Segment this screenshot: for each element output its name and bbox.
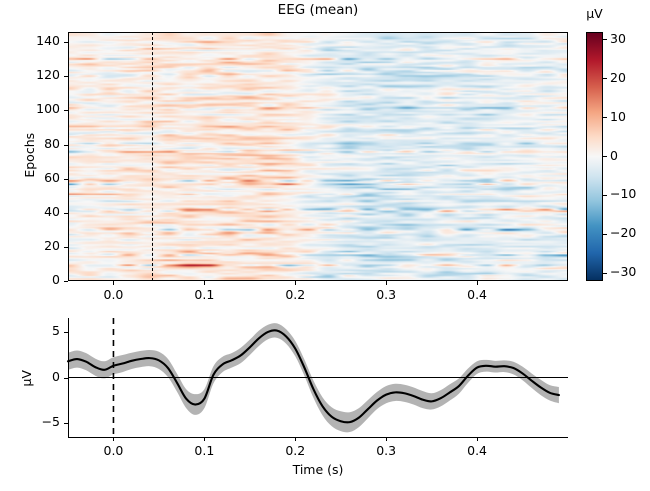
heatmap-y-tick-label: 120 xyxy=(0,69,60,82)
erp-x-tick-label: 0.0 xyxy=(91,445,135,458)
erp-y-axis-label: µV xyxy=(21,358,34,398)
heatmap-y-tick-label: 40 xyxy=(0,206,60,219)
colorbar-tick-label: 10 xyxy=(610,111,626,124)
heatmap-x-tick-label: 0.3 xyxy=(364,289,408,302)
heatmap-x-tick-label: 0.1 xyxy=(182,289,226,302)
erp-x-tick-label: 0.2 xyxy=(273,445,317,458)
colorbar-tick-label: 30 xyxy=(610,33,626,46)
erp-bottom-spine xyxy=(68,437,568,438)
heatmap-event-onset-line xyxy=(152,32,153,281)
erp-plot-svg xyxy=(68,318,568,437)
heatmap-y-tick-label: 100 xyxy=(0,103,60,116)
erp-mean-line xyxy=(68,330,559,422)
colorbar-tick-label: −20 xyxy=(610,227,636,240)
colorbar-title: µV xyxy=(586,8,603,21)
erp-x-axis-label: Time (s) xyxy=(68,464,568,477)
colorbar-tick-label: −30 xyxy=(610,266,636,279)
figure-canvas: EEG (mean) 020406080100120140 0.00.10.20… xyxy=(0,0,650,491)
heatmap-canvas xyxy=(69,33,567,280)
colorbar-tick-label: −10 xyxy=(610,188,636,201)
heatmap-y-axis-label: Epochs xyxy=(24,123,37,187)
evoked-mean-waveform xyxy=(68,318,568,437)
colorbar-tick-label: 20 xyxy=(610,72,626,85)
heatmap-y-tick-label: 140 xyxy=(0,35,60,48)
erp-y-tick-label: −5 xyxy=(0,416,60,429)
erp-x-tick-label: 0.4 xyxy=(455,445,499,458)
heatmap-x-tick-label: 0.4 xyxy=(455,289,499,302)
colorbar-tick-label: 0 xyxy=(610,150,618,163)
heatmap-y-tick-label: 0 xyxy=(0,274,60,287)
chart-title: EEG (mean) xyxy=(68,4,568,18)
erp-x-tick-label: 0.3 xyxy=(364,445,408,458)
heatmap-x-tick-label: 0.2 xyxy=(273,289,317,302)
erp-y-tick-label: 5 xyxy=(0,325,60,338)
heatmap-x-tick-label: 0.0 xyxy=(91,289,135,302)
erp-left-spine xyxy=(68,318,69,437)
heatmap-y-tick-label: 20 xyxy=(0,240,60,253)
colorbar xyxy=(586,32,603,281)
erp-image-heatmap xyxy=(68,32,568,281)
erp-x-tick-label: 0.1 xyxy=(182,445,226,458)
